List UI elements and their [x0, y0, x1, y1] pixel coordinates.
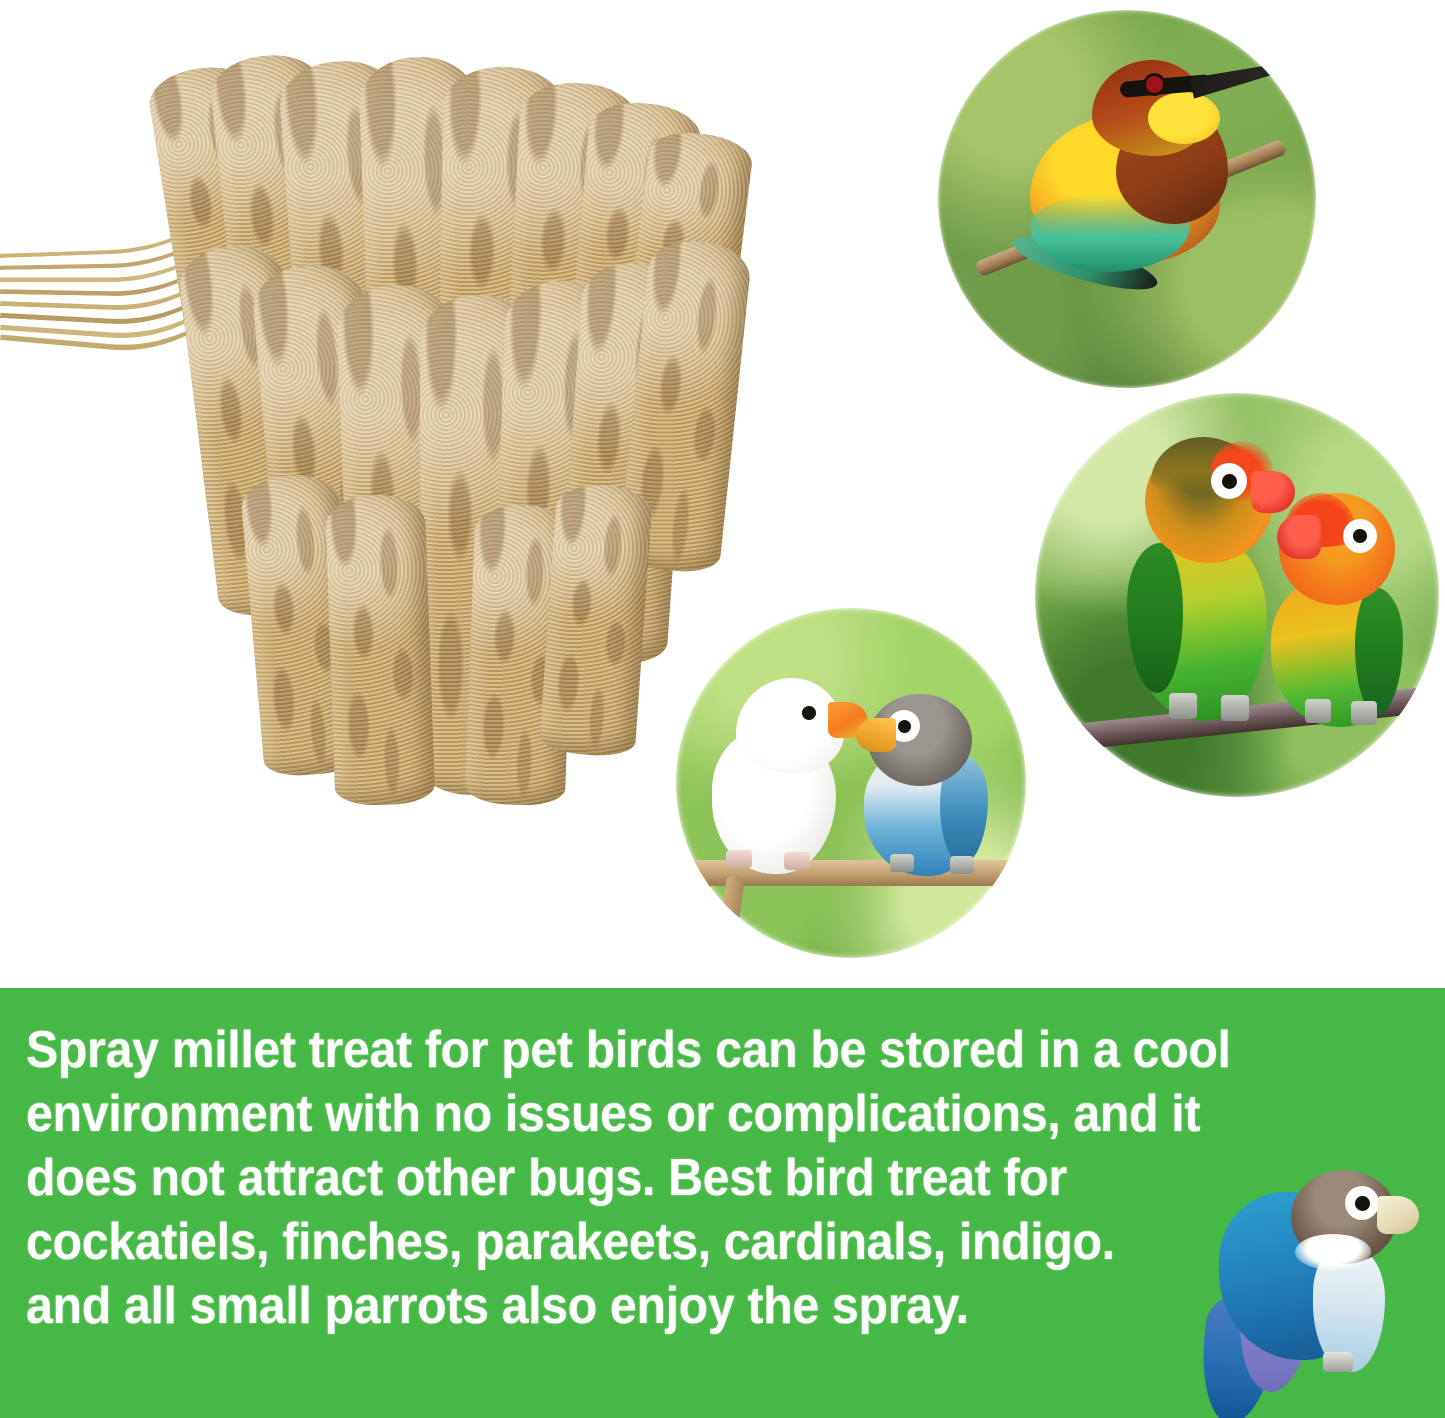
banner-text-line: cockatiels, finches, parakeets, cardinal… — [26, 1210, 1263, 1274]
banner-bird-beak — [1377, 1196, 1419, 1234]
bird-photo-fischers-lovebirds — [1035, 393, 1439, 797]
white-lovebird-eye — [802, 706, 816, 720]
lovebird-right-foot — [1351, 701, 1377, 725]
banner-text-line: Spray millet treat for pet birds can be … — [26, 1018, 1263, 1082]
lovebird-right-beak — [1277, 515, 1321, 559]
banner-description-text: Spray millet treat for pet birds can be … — [26, 1018, 1263, 1338]
blue-lovebird-foot — [950, 856, 974, 874]
bird-photo-white-and-blue-lovebirds — [676, 608, 1026, 958]
product-listing-image: Spray millet treat for pet birds can be … — [0, 0, 1445, 1418]
banner-text-line: environment with no issues or complicati… — [26, 1082, 1263, 1146]
blue-lovebird-beak — [856, 718, 896, 752]
banner-text-line: does not attract other bugs. Best bird t… — [26, 1146, 1263, 1210]
spray-millet-product-photo — [0, 55, 790, 815]
lovebird-left-foot — [1169, 693, 1197, 719]
bird-throat — [1148, 92, 1220, 144]
banner-bird-collar — [1295, 1234, 1371, 1270]
banner-blue-masked-lovebird — [1195, 1156, 1427, 1418]
lovebird-left-beak — [1251, 471, 1295, 513]
banner-text-line: and all small parrots also enjoy the spr… — [26, 1274, 1263, 1338]
banner-bird-foot — [1323, 1352, 1353, 1372]
bird-photo-bee-eater — [938, 10, 1316, 388]
bird-eye — [1146, 76, 1163, 93]
blue-lovebird-eye — [898, 720, 911, 733]
millet-head — [325, 493, 436, 806]
lovebird-left-eye — [1222, 474, 1237, 489]
blue-lovebird-foot — [890, 854, 914, 872]
green-description-banner: Spray millet treat for pet birds can be … — [0, 988, 1445, 1418]
millet-head — [539, 482, 654, 758]
white-lovebird-foot — [784, 852, 810, 870]
photo-collage-area — [0, 0, 1445, 988]
lovebird-left-foot — [1221, 695, 1249, 721]
lovebird-right-eye — [1353, 529, 1367, 543]
lovebird-right-foot — [1305, 699, 1331, 723]
banner-bird-eye — [1355, 1196, 1370, 1211]
white-lovebird-foot — [726, 850, 752, 868]
